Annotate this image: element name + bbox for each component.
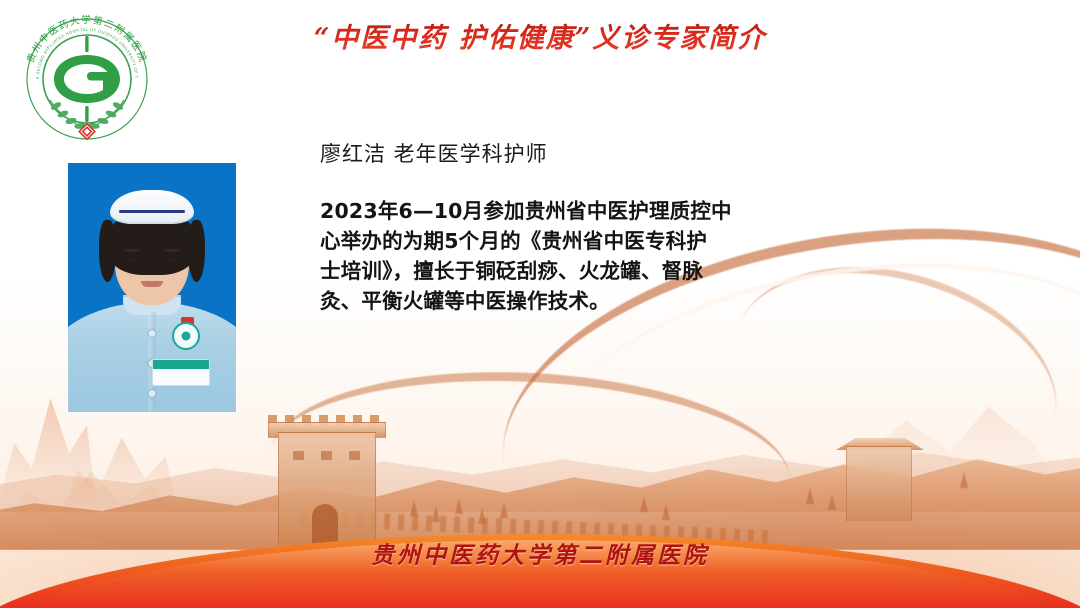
expert-portrait-photo bbox=[68, 163, 236, 412]
tree-icon bbox=[455, 498, 463, 514]
tree-icon bbox=[828, 494, 836, 510]
ribbon-fold-4 bbox=[0, 596, 1080, 608]
uniform-button bbox=[149, 330, 156, 337]
ribbon-fold-3 bbox=[0, 574, 1080, 608]
second-watchtower-roof-icon bbox=[836, 438, 924, 450]
watchtower-crenellation-icon bbox=[268, 415, 384, 426]
uniform-button bbox=[149, 390, 156, 397]
eyebrow-left bbox=[124, 249, 140, 252]
tree-icon bbox=[410, 500, 418, 516]
expert-biography: 2023年6—10月参加贵州省中医护理质控中 心举办的为期5个月的《贵州省中医专… bbox=[320, 196, 772, 316]
eye-left bbox=[126, 258, 138, 262]
nurse-cap-band bbox=[119, 210, 185, 213]
tree-icon bbox=[960, 472, 968, 488]
hospital-badge-icon bbox=[172, 322, 200, 350]
expert-name-line: 廖红洁 老年医学科护师 bbox=[320, 138, 548, 168]
tree-icon bbox=[806, 488, 814, 504]
watchtower-window-icon bbox=[293, 451, 304, 460]
watchtower-icon bbox=[278, 432, 376, 546]
mountain-peak-c bbox=[0, 444, 190, 536]
eye-right bbox=[166, 258, 178, 262]
mouth bbox=[141, 281, 163, 287]
tree-icon bbox=[662, 504, 670, 520]
forest-ridge-back bbox=[0, 402, 1080, 512]
mountain-peak-right bbox=[830, 380, 1070, 500]
tree-icon bbox=[432, 506, 440, 522]
mountain-peak-b bbox=[54, 416, 184, 536]
hair-side-right bbox=[188, 220, 205, 282]
tree-icon bbox=[478, 508, 486, 524]
tree-icon bbox=[500, 502, 508, 518]
footer-organization: 贵州中医药大学第二附属医院 bbox=[0, 536, 1080, 570]
slide-title: “中医中药 护佑健康”义诊专家简介 bbox=[0, 16, 1080, 55]
tree-icon bbox=[640, 496, 648, 512]
watchtower-window-icon bbox=[321, 451, 332, 460]
bio-line: 2023年6—10月参加贵州省中医护理质控中 bbox=[320, 196, 772, 226]
presentation-slide: 贵州中医药大学第二附属医院 THE SECOND AFFILIATED HOSP… bbox=[0, 0, 1080, 608]
hair-side-left bbox=[99, 220, 116, 282]
nurse-cap-icon bbox=[110, 190, 194, 224]
bio-line: 士培训》，擅长于铜砭刮痧、火龙罐、督脉 bbox=[320, 256, 772, 286]
red-ribbon-banner bbox=[0, 458, 1080, 608]
forest-ridge-front bbox=[0, 420, 1080, 550]
second-watchtower-icon bbox=[846, 446, 912, 522]
name-tag bbox=[152, 359, 210, 386]
watchtower-cornice-icon bbox=[268, 422, 386, 438]
bio-line: 灸、平衡火罐等中医操作技术。 bbox=[320, 286, 772, 316]
bio-line: 心举办的为期5个月的《贵州省中医专科护 bbox=[320, 226, 772, 256]
eyebrow-right bbox=[164, 249, 180, 252]
watchtower-window-icon bbox=[349, 451, 360, 460]
